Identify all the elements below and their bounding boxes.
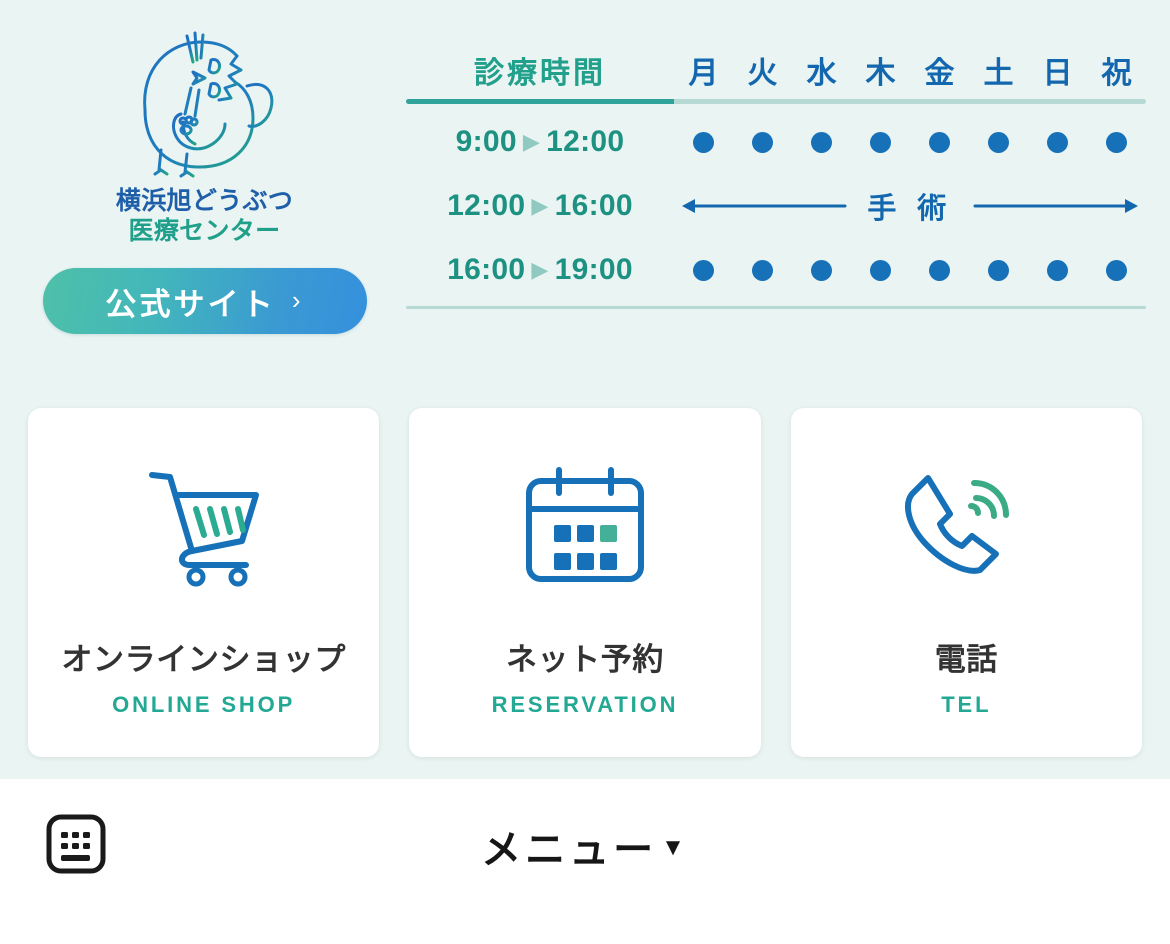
card-subtitle: RESERVATION	[492, 692, 679, 718]
divider-accent-segment	[406, 99, 674, 104]
action-card-row: オンラインショップ ONLINE SHOP	[28, 408, 1142, 757]
card-subtitle: TEL	[941, 692, 991, 718]
hours-bottom-divider	[406, 306, 1146, 309]
row-end-time: 12:00	[546, 125, 624, 158]
hours-header-label: 診療時間	[406, 48, 674, 94]
open-dot-icon	[811, 132, 832, 153]
chevron-right-icon: ›	[292, 287, 304, 313]
table-row: 16:00▶19:00	[406, 238, 1146, 302]
card-title: 電話	[935, 634, 998, 679]
brand-name-line-1: 横浜旭どうぶつ	[116, 187, 293, 217]
arrow-right-icon	[973, 195, 1141, 217]
surgery-span: 手 術	[674, 185, 1146, 227]
phone-icon	[902, 452, 1030, 602]
day-header-row: 月 火 水 木 金 土 日 祝	[674, 48, 1146, 94]
day-header-mon: 月	[674, 48, 733, 94]
cell-sat-morning	[969, 132, 1028, 153]
cell-thu-evening	[851, 260, 910, 281]
row-start-time: 9:00	[456, 125, 517, 158]
chevron-down-icon: ▼	[661, 836, 689, 860]
cell-holiday-evening	[1087, 260, 1146, 281]
row-start-time: 16:00	[447, 253, 525, 286]
keyboard-button[interactable]	[45, 814, 107, 874]
open-dot-icon	[693, 260, 714, 281]
brand-block: 横浜旭どうぶつ 医療センター 公式サイト ›	[22, 18, 387, 334]
card-reservation[interactable]: ネット予約 RESERVATION	[409, 408, 760, 757]
clinic-info-panel: 横浜旭どうぶつ 医療センター 公式サイト › 診療時間 月 火 水 木 金 土 …	[0, 0, 1170, 779]
surgery-label: 手 術	[847, 185, 972, 227]
table-row: 12:00▶16:00 手 術	[406, 174, 1146, 238]
menu-label: メニュー	[481, 817, 657, 875]
bottom-toolbar: メニュー ▼	[0, 779, 1170, 944]
cell-holiday-morning	[1087, 132, 1146, 153]
open-dot-icon	[752, 132, 773, 153]
divider-soft-segment	[674, 99, 1146, 104]
row-end-time: 19:00	[555, 253, 633, 286]
time-range-triangle-icon: ▶	[517, 129, 546, 154]
hours-row-cells-evening	[674, 260, 1146, 281]
hours-row-time-surgery: 12:00▶16:00	[406, 189, 674, 223]
row-end-time: 16:00	[555, 189, 633, 222]
cat-line-art-logo	[125, 18, 285, 183]
open-dot-icon	[929, 260, 950, 281]
cell-sat-evening	[969, 260, 1028, 281]
official-site-label: 公式サイト	[105, 279, 276, 324]
hours-table-body: 9:00▶12:00 1	[406, 104, 1146, 302]
hours-header-divider	[406, 99, 1146, 104]
cell-wed-evening	[792, 260, 851, 281]
official-site-button[interactable]: 公式サイト ›	[43, 268, 367, 334]
calendar-icon	[521, 452, 649, 602]
hours-table-header: 診療時間 月 火 水 木 金 土 日 祝	[406, 36, 1146, 94]
day-header-thu: 木	[851, 48, 910, 94]
time-range-triangle-icon: ▶	[525, 257, 554, 282]
open-dot-icon	[752, 260, 773, 281]
cell-tue-evening	[733, 260, 792, 281]
hours-row-time-evening: 16:00▶19:00	[406, 253, 674, 287]
open-dot-icon	[929, 132, 950, 153]
open-dot-icon	[1106, 260, 1127, 281]
day-header-sat: 土	[969, 48, 1028, 94]
card-telephone[interactable]: 電話 TEL	[791, 408, 1142, 757]
cell-mon-evening	[674, 260, 733, 281]
open-dot-icon	[1106, 132, 1127, 153]
brand-name-line-2: 医療センター	[116, 217, 293, 247]
open-dot-icon	[1047, 260, 1068, 281]
cell-sun-evening	[1028, 260, 1087, 281]
keyboard-icon	[45, 814, 107, 874]
day-header-holiday: 祝	[1087, 48, 1146, 94]
hours-row-cells-surgery: 手 術	[674, 185, 1146, 227]
cell-fri-evening	[910, 260, 969, 281]
card-online-shop[interactable]: オンラインショップ ONLINE SHOP	[28, 408, 379, 757]
time-range-triangle-icon: ▶	[525, 193, 554, 218]
open-dot-icon	[693, 132, 714, 153]
hours-row-cells-morning	[674, 132, 1146, 153]
cell-mon-morning	[674, 132, 733, 153]
day-header-fri: 金	[910, 48, 969, 94]
card-subtitle: ONLINE SHOP	[112, 692, 295, 718]
open-dot-icon	[870, 260, 891, 281]
card-title: ネット予約	[506, 634, 664, 679]
row-start-time: 12:00	[447, 189, 525, 222]
shopping-cart-icon	[134, 452, 274, 602]
table-row: 9:00▶12:00	[406, 110, 1146, 174]
cell-fri-morning	[910, 132, 969, 153]
page-root: 横浜旭どうぶつ 医療センター 公式サイト › 診療時間 月 火 水 木 金 土 …	[0, 0, 1170, 944]
cell-wed-morning	[792, 132, 851, 153]
hours-row-time-morning: 9:00▶12:00	[406, 125, 674, 159]
cell-tue-morning	[733, 132, 792, 153]
open-dot-icon	[870, 132, 891, 153]
open-dot-icon	[988, 132, 1009, 153]
card-title: オンラインショップ	[61, 634, 346, 679]
clinic-hours-table: 診療時間 月 火 水 木 金 土 日 祝	[406, 36, 1146, 309]
day-header-tue: 火	[733, 48, 792, 94]
open-dot-icon	[811, 260, 832, 281]
open-dot-icon	[988, 260, 1009, 281]
day-header-sun: 日	[1028, 48, 1087, 94]
brand-wordmark: 横浜旭どうぶつ 医療センター	[116, 187, 293, 246]
cell-sun-morning	[1028, 132, 1087, 153]
menu-button[interactable]: メニュー ▼	[481, 817, 689, 875]
open-dot-icon	[1047, 132, 1068, 153]
cell-thu-morning	[851, 132, 910, 153]
day-header-wed: 水	[792, 48, 851, 94]
arrow-left-icon	[679, 195, 847, 217]
